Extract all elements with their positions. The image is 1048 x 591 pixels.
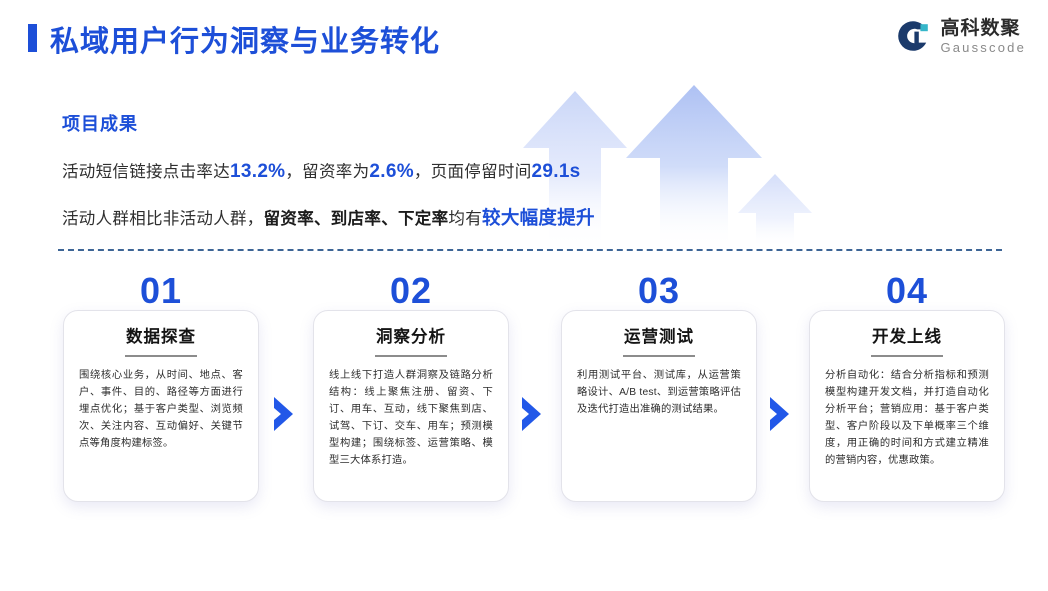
step-card-body-01[interactable]: 数据探查 围绕核心业务，从时间、地点、客户、事件、目的、路径等方面进行埋点优化；… (63, 310, 259, 502)
title-accent-bar (28, 24, 37, 52)
step-rule-01 (125, 355, 197, 357)
step-text-03: 利用测试平台、测试库，从运营策略设计、A/B test、到运营策略评估及迭代打造… (577, 367, 741, 418)
brand-logo: 高科数聚 Gausscode (895, 18, 1026, 54)
step-title-03: 运营测试 (577, 327, 741, 347)
step-number-02: 02 (313, 272, 509, 310)
step-title-01: 数据探查 (79, 327, 243, 347)
step-rule-02 (375, 355, 447, 357)
brand-text: 高科数聚 Gausscode (940, 19, 1026, 54)
chevron-right-icon-1 (270, 394, 300, 434)
step-card-02[interactable]: 02 洞察分析 线上线下打造人群洞察及链路分析结构：线上聚焦注册、留资、下订、用… (313, 272, 509, 522)
step-number-03: 03 (561, 272, 757, 310)
page-header: 私域用户行为洞察与业务转化 高科数聚 Gausscode (0, 0, 1048, 80)
step-card-body-04[interactable]: 开发上线 分析自动化：结合分析指标和预测模型构建开发文档，并打造自动化分析平台；… (809, 310, 1005, 502)
metric-lead-rate: 2.6% (369, 161, 414, 182)
results-line2-highlight: 较大幅度提升 (482, 207, 595, 228)
metric-click-rate: 13.2% (230, 161, 285, 182)
results-line1-part2: ，留资率为 (285, 163, 369, 181)
step-text-04: 分析自动化：结合分析指标和预测模型构建开发文档，并打造自动化分析平台；营销应用：… (825, 367, 989, 469)
results-line2-bold: 留资率、到店率、下定率 (264, 210, 449, 228)
chevron-right-icon-3 (766, 394, 796, 434)
project-results-block: 项目成果 活动短信链接点击率达13.2%，留资率为2.6%，页面停留时间29.1… (62, 110, 762, 230)
step-card-03[interactable]: 03 运营测试 利用测试平台、测试库，从运营策略设计、A/B test、到运营策… (561, 272, 757, 522)
results-line1-part1: 活动短信链接点击率达 (62, 163, 230, 181)
step-text-02: 线上线下打造人群洞察及链路分析结构：线上聚焦注册、留资、下订、用车、互动，线下聚… (329, 367, 493, 469)
results-line-1: 活动短信链接点击率达13.2%，留资率为2.6%，页面停留时间29.1s (62, 158, 762, 183)
step-number-04: 04 (809, 272, 1005, 310)
results-line1-part3: ，页面停留时间 (414, 163, 532, 181)
step-rule-04 (871, 355, 943, 357)
step-number-01: 01 (63, 272, 259, 310)
results-line-2: 活动人群相比非活动人群，留资率、到店率、下定率均有较大幅度提升 (62, 204, 762, 230)
brand-name-cn: 高科数聚 (940, 19, 1026, 38)
step-title-02: 洞察分析 (329, 327, 493, 347)
step-card-body-02[interactable]: 洞察分析 线上线下打造人群洞察及链路分析结构：线上聚焦注册、留资、下订、用车、互… (313, 310, 509, 502)
results-heading: 项目成果 (62, 110, 762, 136)
step-card-01[interactable]: 01 数据探查 围绕核心业务，从时间、地点、客户、事件、目的、路径等方面进行埋点… (63, 272, 259, 522)
step-rule-03 (623, 355, 695, 357)
section-divider (58, 249, 1002, 251)
process-steps: 01 数据探查 围绕核心业务，从时间、地点、客户、事件、目的、路径等方面进行埋点… (0, 272, 1048, 522)
brand-name-en: Gausscode (940, 41, 1026, 54)
step-card-04[interactable]: 04 开发上线 分析自动化：结合分析指标和预测模型构建开发文档，并打造自动化分析… (809, 272, 1005, 522)
chevron-right-icon-2 (518, 394, 548, 434)
step-title-04: 开发上线 (825, 327, 989, 347)
gausscode-logo-icon (895, 18, 931, 54)
metric-dwell-time: 29.1s (532, 161, 581, 182)
results-line2-part1: 活动人群相比非活动人群， (62, 210, 264, 228)
page-title: 私域用户行为洞察与业务转化 (50, 18, 440, 60)
results-line2-part2: 均有 (448, 210, 482, 228)
step-card-body-03[interactable]: 运营测试 利用测试平台、测试库，从运营策略设计、A/B test、到运营策略评估… (561, 310, 757, 502)
step-text-01: 围绕核心业务，从时间、地点、客户、事件、目的、路径等方面进行埋点优化；基于客户类… (79, 367, 243, 452)
